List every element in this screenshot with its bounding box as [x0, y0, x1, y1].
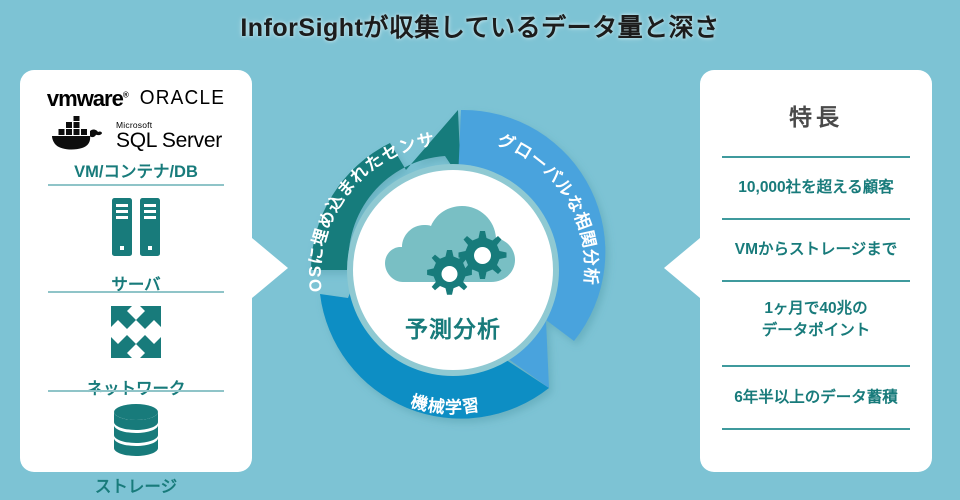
oracle-logo: ORACLE	[140, 87, 225, 110]
logo-row-top: vmware® ORACLE	[20, 82, 252, 116]
divider-1	[48, 184, 224, 186]
group-label-vm-container-db: VM/コンテナ/DB	[20, 158, 252, 182]
left-item-label-network: ネットワーク	[87, 375, 186, 399]
feature-panel-title: 特長	[700, 98, 932, 132]
center-label: 予測分析	[288, 310, 618, 344]
center-ring-diagram: OSに埋め込まれたセンサー グローバルな相関分析 機械学習	[288, 98, 618, 442]
feature-item-history: 6年半以上のデータ蓄積	[710, 387, 922, 409]
feature-divider-5	[722, 428, 910, 430]
feature-item-coverage: VMからストレージまで	[710, 239, 922, 261]
vmware-logo: vmware®	[47, 86, 128, 112]
arrow-left-to-center	[252, 238, 288, 298]
feature-divider-4	[722, 365, 910, 367]
left-item-server: サーバ	[20, 196, 252, 295]
divider-2	[48, 291, 224, 293]
divider-3	[48, 390, 224, 392]
left-item-storage: ストレージ	[20, 402, 252, 497]
feature-divider-1	[722, 156, 910, 158]
sql-server-logo: Microsoft SQL Server	[116, 121, 222, 151]
left-panel: vmware® ORACLE Microsof	[20, 70, 252, 472]
docker-icon	[50, 116, 102, 157]
storage-icon	[107, 402, 165, 465]
feature-item-customers: 10,000社を超える顧客	[710, 177, 922, 199]
arrow-center-to-right	[664, 238, 700, 298]
feature-divider-3	[722, 280, 910, 282]
cloud-gears-icon	[385, 190, 525, 300]
left-item-network: ネットワーク	[20, 302, 252, 399]
feature-divider-2	[722, 218, 910, 220]
network-icon	[105, 302, 167, 367]
diagram-canvas: InforSightが収集しているデータ量と深さ vmware® ORACLE	[0, 0, 960, 500]
server-icon	[106, 196, 166, 263]
left-item-label-storage: ストレージ	[95, 473, 177, 497]
right-panel: 特長 10,000社を超える顧客 VMからストレージまで 1ヶ月で40兆の デー…	[700, 70, 932, 472]
logo-row-bottom: Microsoft SQL Server	[20, 116, 252, 156]
feature-item-datapoints: 1ヶ月で40兆の データポイント	[710, 298, 922, 343]
page-title: InforSightが収集しているデータ量と深さ	[0, 8, 960, 44]
